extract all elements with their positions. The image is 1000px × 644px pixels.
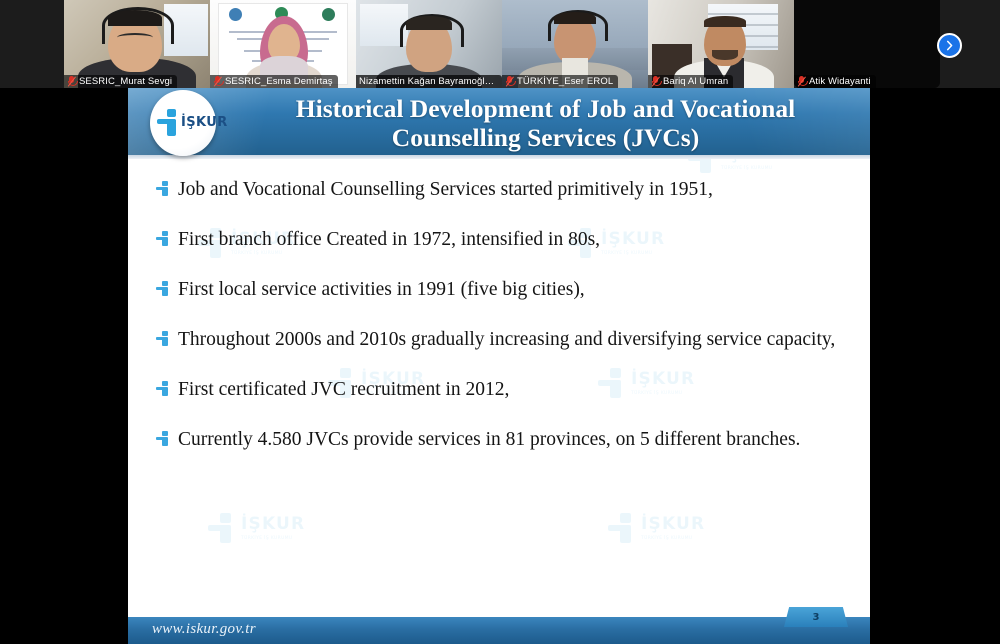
- slide-header-underline: [128, 155, 870, 159]
- participant-filmstrip: SESRIC_Murat Sevgi: [0, 0, 1000, 88]
- slide-bullet-text: First certificated JVC recruitment in 20…: [178, 379, 509, 400]
- slide-bullet-item: Job and Vocational Counselling Services …: [154, 176, 844, 204]
- slide-bullet-list: Job and Vocational Counselling Services …: [154, 176, 844, 454]
- slide-bullet-item: First certificated JVC recruitment in 20…: [154, 376, 844, 404]
- participant-name: Nizamettin Kağan Bayramoğlu (T...: [359, 76, 497, 87]
- watermark-subtext: TÜRKİYE İŞ KURUMU: [721, 166, 785, 171]
- participant-name: TÜRKİYE_Eser EROL: [517, 76, 613, 87]
- watermark-text: İŞKUR: [641, 514, 705, 534]
- slide-title-line-2: Counselling Services (JVCs): [233, 124, 858, 153]
- mic-muted-icon: [213, 76, 222, 87]
- iskur-logo-text: İŞKUR: [181, 115, 228, 130]
- slide-footer-band: www.iskur.gov.tr 3: [128, 617, 870, 644]
- participant-name-label: Bariq Al Umran: [648, 75, 733, 88]
- presentation-slide[interactable]: İŞKUR TÜRKİYE İŞ KURUMU İŞKUR TÜRKİYE İŞ…: [128, 88, 870, 644]
- slide-title-line-1: Historical Development of Job and Vocati…: [296, 94, 795, 123]
- mic-muted-icon: [505, 76, 514, 87]
- participant-name: Bariq Al Umran: [663, 76, 728, 87]
- participant-name-label: SESRIC_Esma Demirtaş: [210, 75, 338, 88]
- watermark-subtext: TÜRKİYE İŞ KURUMU: [241, 536, 305, 541]
- iskur-bullet-icon: [156, 231, 169, 246]
- slide-bullet-text: Throughout 2000s and 2010s gradually inc…: [178, 329, 835, 350]
- mic-muted-icon: [651, 76, 660, 87]
- slide-bullet-text: First local service activities in 1991 (…: [178, 279, 585, 300]
- iskur-bullet-icon: [156, 181, 169, 196]
- iskur-watermark-icon: [608, 513, 634, 543]
- iskur-bullet-icon: [156, 281, 169, 296]
- slide-bullet-text: First branch office Created in 1972, int…: [178, 229, 600, 250]
- mic-muted-icon: [797, 76, 806, 87]
- participant-tile[interactable]: TÜRKİYE_Eser EROL: [502, 0, 648, 88]
- slide-bullet-item: Currently 4.580 JVCs provide services in…: [154, 426, 844, 454]
- slide-bullet-text: Currently 4.580 JVCs provide services in…: [178, 429, 800, 450]
- participant-tile[interactable]: SESRIC_Esma Demirtaş: [210, 0, 356, 88]
- iskur-bullet-icon: [156, 331, 169, 346]
- slide-bullet-text: Job and Vocational Counselling Services …: [178, 179, 713, 200]
- iskur-logo: İŞKUR: [150, 90, 216, 156]
- participant-name-label: Atik Widayanti: [794, 75, 876, 88]
- participant-name: Atik Widayanti: [809, 76, 871, 87]
- participant-name: SESRIC_Murat Sevgi: [79, 76, 172, 87]
- zoom-meeting-screen: SESRIC_Murat Sevgi: [0, 0, 1000, 644]
- slide-page-number: 3: [813, 612, 820, 623]
- participant-tile[interactable]: Bariq Al Umran: [648, 0, 794, 88]
- iskur-logomark-icon: [157, 109, 179, 136]
- participant-tile[interactable]: SESRIC_Murat Sevgi: [64, 0, 210, 88]
- participant-name-label: TÜRKİYE_Eser EROL: [502, 75, 618, 88]
- slide-bullet-item: First branch office Created in 1972, int…: [154, 226, 844, 254]
- slide-bullet-item: Throughout 2000s and 2010s gradually inc…: [154, 326, 844, 354]
- iskur-bullet-icon: [156, 381, 169, 396]
- slide-title: Historical Development of Job and Vocati…: [233, 95, 858, 152]
- slide-page-number-badge: 3: [784, 607, 848, 627]
- iskur-bullet-icon: [156, 431, 169, 446]
- participant-name: SESRIC_Esma Demirtaş: [225, 76, 333, 87]
- slide-bullet-item: First local service activities in 1991 (…: [154, 276, 844, 304]
- participant-tile[interactable]: Atik Widayanti: [794, 0, 940, 88]
- iskur-watermark-icon: [208, 513, 234, 543]
- participant-name-label: SESRIC_Murat Sevgi: [64, 75, 177, 88]
- slide-footer-url: www.iskur.gov.tr: [152, 621, 256, 638]
- shared-screen-area: İŞKUR TÜRKİYE İŞ KURUMU İŞKUR TÜRKİYE İŞ…: [0, 88, 1000, 644]
- participant-tile-active-speaker[interactable]: Nizamettin Kağan Bayramoğlu (T...: [356, 0, 502, 88]
- participant-name-label: Nizamettin Kağan Bayramoğlu (T...: [356, 75, 502, 88]
- watermark-text: İŞKUR: [241, 514, 305, 534]
- next-participants-arrow-icon[interactable]: [937, 33, 962, 58]
- watermark-subtext: TÜRKİYE İŞ KURUMU: [641, 536, 705, 541]
- mic-muted-icon: [67, 76, 76, 87]
